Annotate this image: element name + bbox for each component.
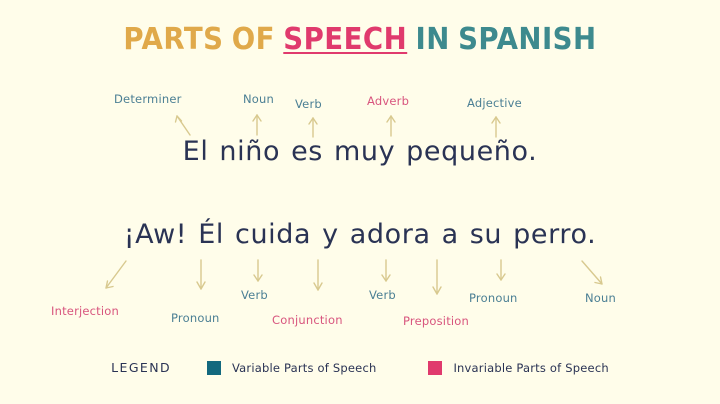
arrow-determiner [168, 110, 194, 136]
sentence1-token-4: pequeño. [406, 136, 537, 167]
title-word-in: IN [416, 22, 450, 57]
sentence1-token-2: es [291, 136, 323, 167]
arrow-preposition [430, 258, 444, 298]
label-adverb: Adverb [367, 94, 409, 108]
label-verb-3: Verb [369, 288, 396, 302]
sentence2-token-0: ¡Aw! [124, 219, 188, 250]
arrow-adjective [489, 113, 503, 138]
legend-swatch-invariable [428, 361, 442, 375]
legend-label-variable: Variable Parts of Speech [232, 361, 376, 375]
arrow-pronoun-2 [494, 258, 508, 284]
arrow-noun-2 [578, 258, 610, 288]
sentence2-token-4: adora [350, 219, 431, 250]
label-noun-2: Noun [585, 291, 616, 305]
legend-item-variable: Variable Parts of Speech [207, 361, 376, 375]
sentence2-token-1: Él [198, 219, 224, 250]
label-preposition: Preposition [403, 314, 469, 328]
arrow-pronoun-1 [194, 258, 208, 292]
legend: LEGEND Variable Parts of Speech Invariab… [0, 360, 720, 375]
sentence2-token-3: y [322, 219, 339, 250]
arrow-noun-1 [250, 110, 264, 136]
label-pronoun-1: Pronoun [171, 311, 220, 325]
sentence2-token-7: perro. [513, 219, 596, 250]
legend-item-invariable: Invariable Parts of Speech [428, 361, 608, 375]
legend-title: LEGEND [111, 360, 171, 375]
arrow-conjunction [311, 258, 325, 294]
arrow-verb-2 [251, 258, 265, 284]
arrow-interjection [98, 258, 130, 292]
label-pronoun-2: Pronoun [469, 291, 518, 305]
sentence1-token-1: niño [219, 136, 280, 167]
slide-canvas: PARTSOFSPEECHINSPANISH Determiner Noun V… [0, 0, 720, 404]
sentence1-token-0: El [183, 136, 209, 167]
title-word-parts: PARTS [123, 22, 223, 57]
page-title: PARTSOFSPEECHINSPANISH [29, 22, 691, 57]
title-word-spanish: SPANISH [458, 22, 597, 57]
label-adjective: Adjective [467, 96, 522, 110]
legend-label-invariable: Invariable Parts of Speech [453, 361, 608, 375]
title-word-of: OF [232, 22, 275, 57]
example-sentence-2: ¡Aw!Élcuidayadoraasuperro. [0, 219, 720, 250]
label-verb-2: Verb [241, 288, 268, 302]
legend-swatch-variable [207, 361, 221, 375]
sentence2-token-5: a [442, 219, 459, 250]
label-conjunction: Conjunction [272, 313, 343, 327]
label-verb-1: Verb [295, 97, 322, 111]
arrow-verb-1 [306, 114, 320, 138]
title-word-speech: SPEECH [283, 22, 407, 57]
sentence2-token-6: su [470, 219, 502, 250]
example-sentence-1: Elniñoesmuypequeño. [0, 136, 720, 167]
arrow-adverb [384, 112, 398, 137]
label-noun-1: Noun [243, 92, 274, 106]
label-interjection: Interjection [51, 304, 119, 318]
sentence2-token-2: cuida [235, 219, 311, 250]
arrow-verb-3 [379, 258, 393, 284]
sentence1-token-3: muy [334, 136, 395, 167]
label-determiner: Determiner [114, 92, 182, 106]
